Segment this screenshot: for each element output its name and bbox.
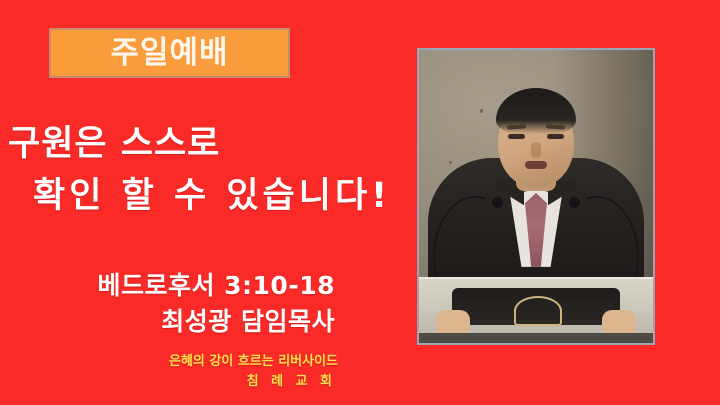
sermon-title-line-1: 구원은 스스로 (0, 118, 420, 170)
pulpit-emblem-icon (514, 296, 562, 326)
church-name-line-2: 침 례 교 회 (0, 372, 338, 392)
speaker-eyebrow-right (546, 124, 565, 129)
sermon-title: 구원은 스스로 확인 할 수 있습니다! (0, 118, 420, 222)
speaker-nose (531, 142, 541, 158)
speaker-photo (417, 48, 655, 345)
service-type-label: 주일예배 (110, 38, 228, 69)
speaker-eye-left (508, 134, 525, 139)
microphone-capsule-right (569, 197, 580, 208)
speaker-photo-scene (419, 50, 653, 343)
speaker-hand-left (436, 310, 470, 334)
scripture-reference: 베드로후서 3:10-18 (0, 268, 335, 304)
service-type-badge: 주일예배 (49, 28, 290, 78)
pulpit-front-panel (452, 288, 620, 325)
pulpit (419, 277, 653, 343)
sermon-reference-block: 베드로후서 3:10-18 최성광 담임목사 (0, 268, 400, 340)
microphone-capsule-left (492, 197, 503, 208)
speaker-name: 최성광 담임목사 (0, 304, 335, 340)
sermon-title-slide: 주일예배 구원은 스스로 확인 할 수 있습니다! 베드로후서 3:10-18 … (0, 0, 720, 405)
church-name-block: 은혜의 강이 흐르는 리버사이드 침 례 교 회 (0, 352, 400, 392)
church-name-line-1: 은혜의 강이 흐르는 리버사이드 (0, 352, 338, 372)
speaker-mouth (525, 161, 547, 169)
photo-wall-speck (480, 109, 483, 113)
speaker-eye-right (547, 134, 564, 139)
pulpit-base (419, 333, 653, 343)
speaker-hand-right (602, 310, 636, 334)
sermon-title-line-2: 확인 할 수 있습니다! (0, 170, 420, 222)
